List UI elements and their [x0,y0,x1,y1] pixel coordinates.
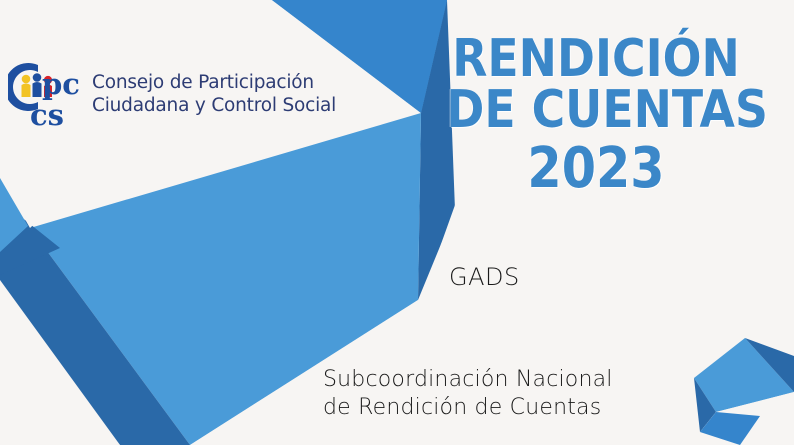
presentation-slide: pc cs Consejo de Participación Ciudadana… [0,0,794,445]
audience-label: GADS [449,263,520,291]
main-title-block: RENDICIÓN DE CUENTAS 2023 [426,34,766,197]
cpccs-logo-icon: pc cs [8,57,88,133]
logo-name-text: Consejo de Participación Ciudadana y Con… [92,72,336,117]
polygon-corner-medium [700,392,794,445]
polygon-corner-dark [745,338,794,392]
polygon-corner-tail [700,412,760,445]
department-line-2: de Rendición de Cuentas [323,394,613,422]
logo-name-line-1: Consejo de Participación [92,72,336,95]
logo-name-line-2: Ciudadana y Control Social [92,95,336,118]
department-footer: Subcoordinación Nacional de Rendición de… [323,366,613,422]
polygon-corner-deep [694,378,716,432]
polygon-lower-deep [0,200,60,275]
svg-text:pc: pc [42,67,80,101]
cpccs-logo-block: pc cs Consejo de Participación Ciudadana… [8,57,336,133]
polygon-lower-dark [0,228,190,445]
department-line-1: Subcoordinación Nacional [323,366,613,394]
polygon-left-sliver [0,178,28,252]
title-line-2: DE CUENTAS [446,85,745,136]
svg-text:cs: cs [30,98,64,132]
polygon-corner-light [694,338,794,412]
title-year: 2023 [446,142,745,197]
polygon-mask-bottomleft [0,280,120,445]
title-line-1: RENDICIÓN [446,34,745,85]
